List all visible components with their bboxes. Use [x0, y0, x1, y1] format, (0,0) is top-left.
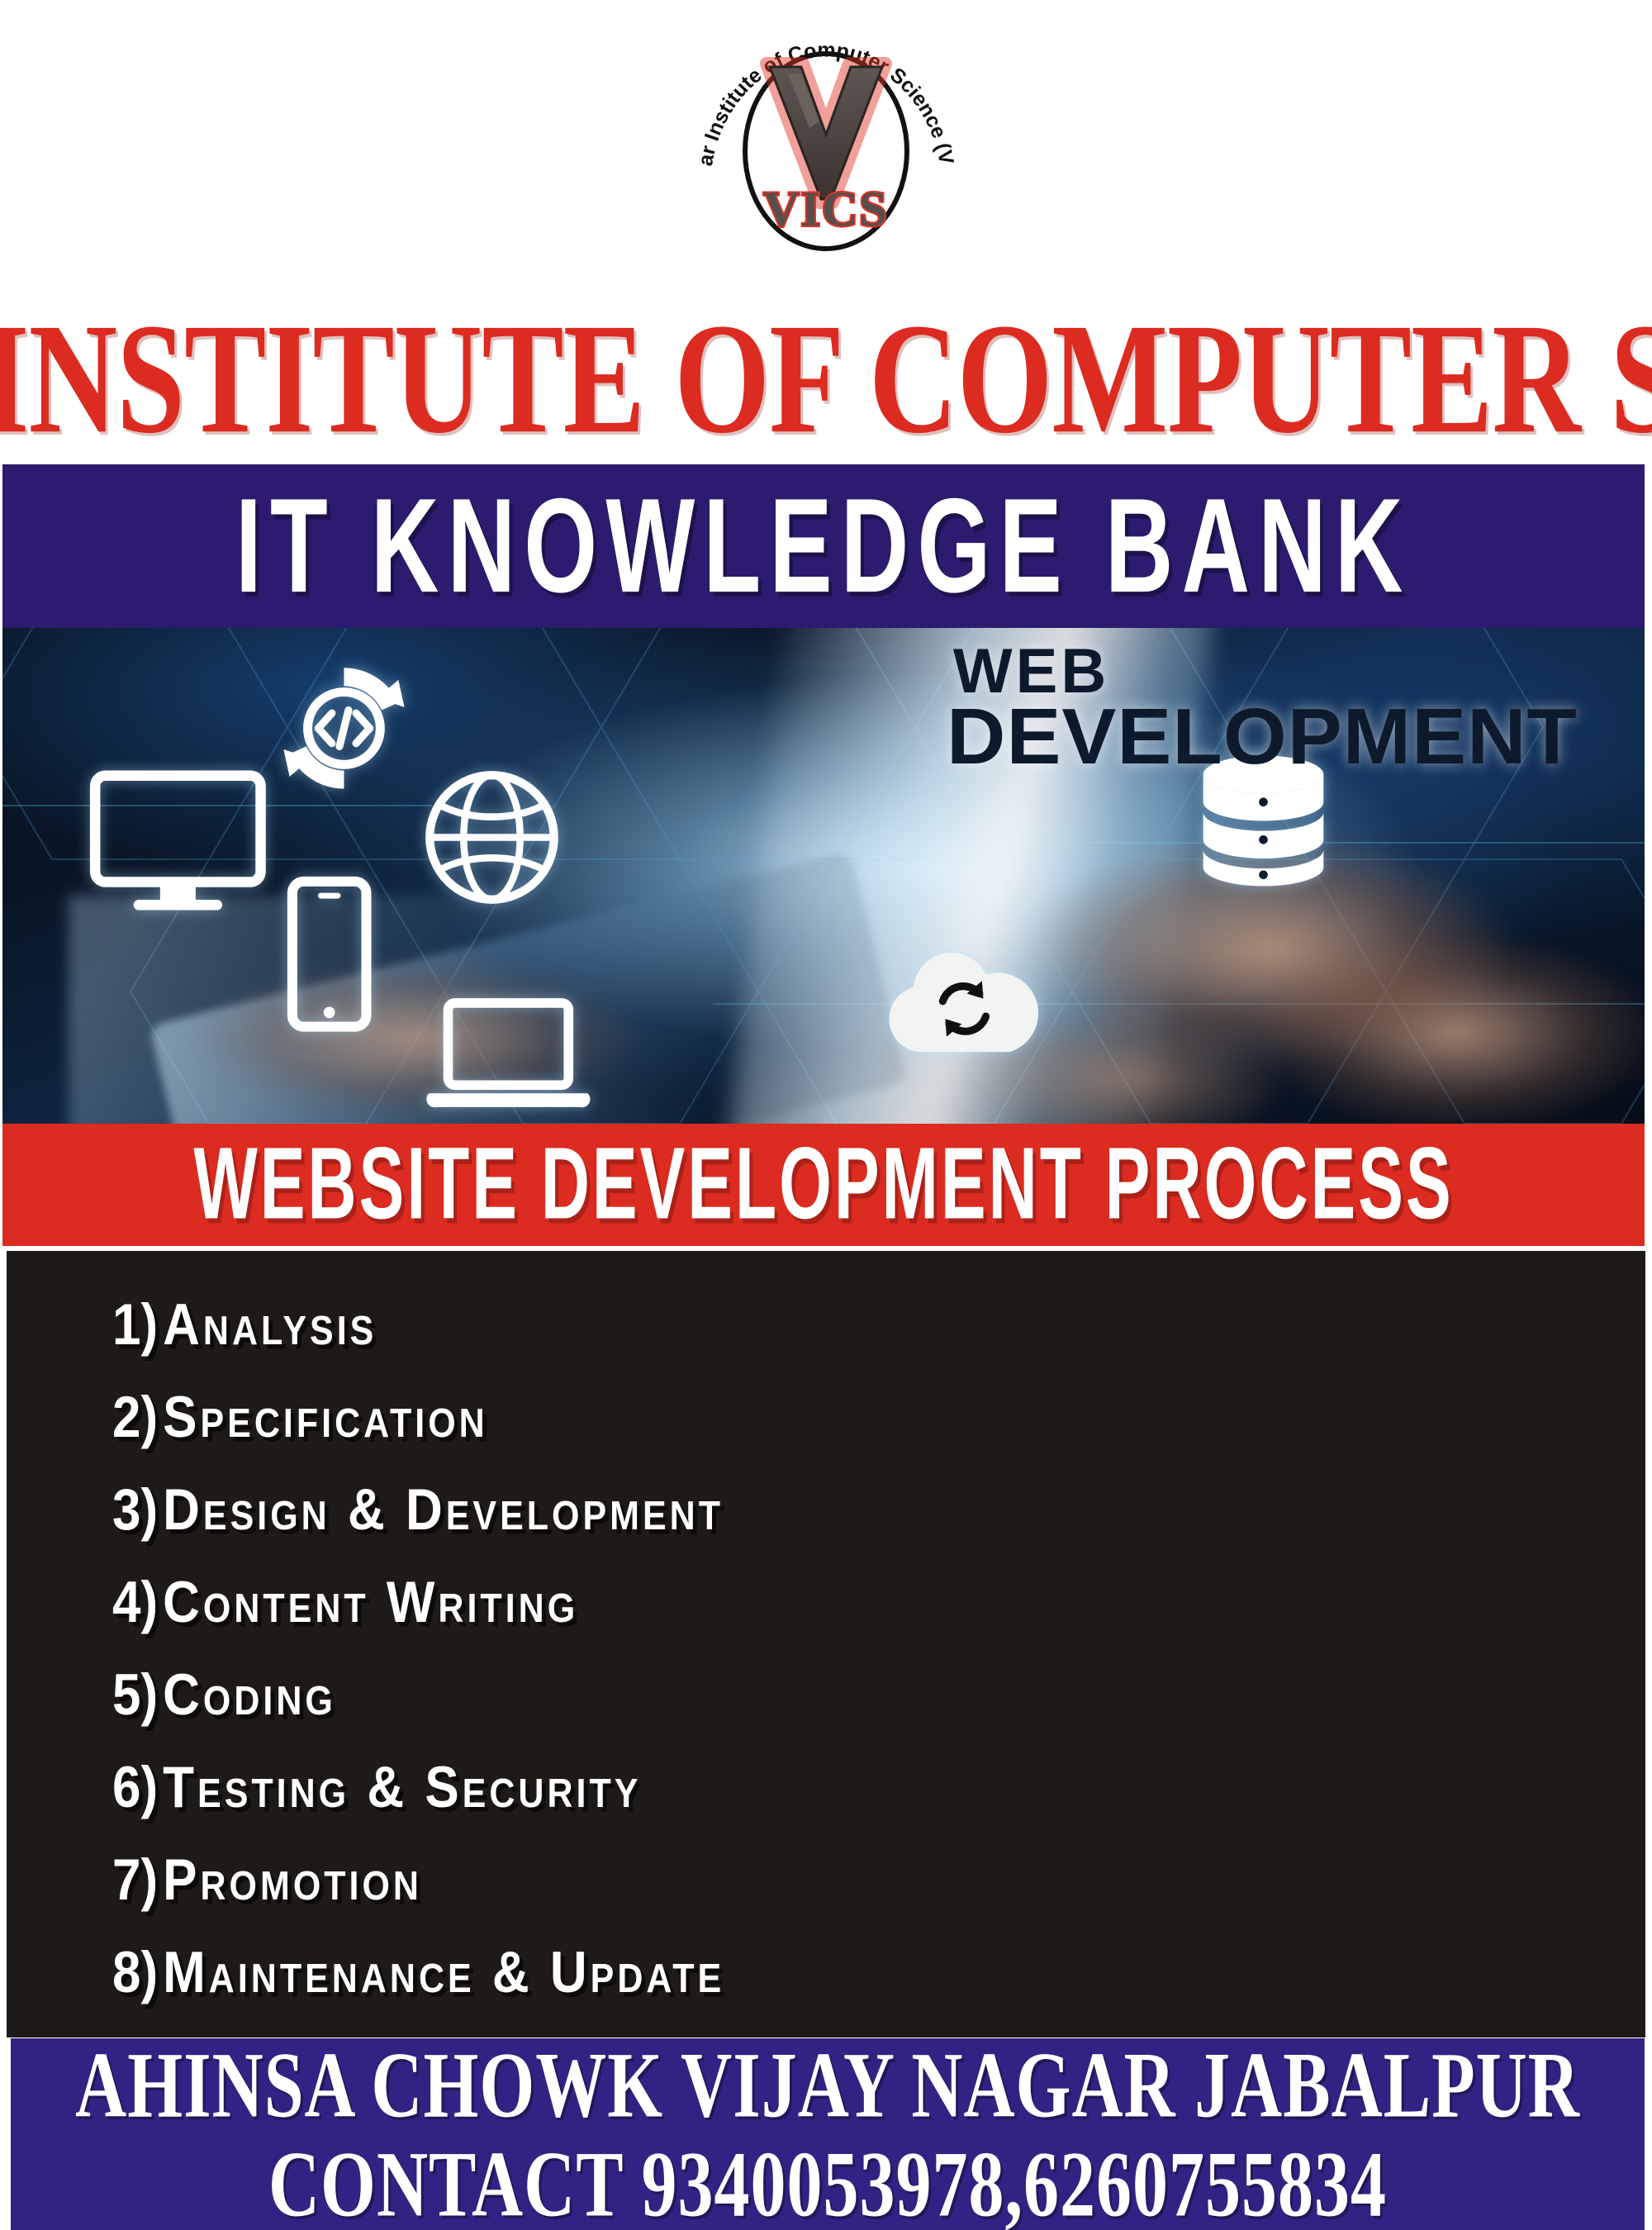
vics-logo-icon: Vistar Institute of Computer Science (VI… — [677, 4, 975, 277]
hero-title-line2: DEVELOPMENT — [947, 701, 1578, 773]
list-item: 4) Content Writing — [112, 1550, 1645, 1656]
code-sync-icon — [268, 653, 420, 804]
cloud-sync-icon — [873, 935, 1051, 1062]
hero-title: WEB DEVELOPMENT — [947, 643, 1559, 773]
institute-title: VISTAR INSTITUTE OF COMPUTER SCIENCE — [17, 274, 1635, 483]
list-item-label: Content Writing — [163, 1574, 578, 1633]
list-item: 7) Promotion — [112, 1828, 1645, 1933]
list-item-label: Maintenance & Update — [163, 1944, 724, 2003]
list-item: 5) Coding — [112, 1643, 1645, 1748]
list-item-number: 5) — [112, 1667, 158, 1725]
process-list-panel: 1) Analysis 2) Specification 3) Design &… — [7, 1251, 1645, 2037]
list-item-label: Testing & Security — [163, 1759, 641, 1818]
it-knowledge-bank-title: IT KNOWLEDGE BANK — [235, 479, 1412, 613]
contact-footer: AHINSA CHOWK VIJAY NAGAR JABALPUR CONTAC… — [11, 2038, 1645, 2230]
list-item-label: Design & Development — [163, 1481, 724, 1540]
laptop-icon — [426, 995, 591, 1118]
list-item-number: 2) — [112, 1389, 158, 1448]
list-item-number: 3) — [112, 1481, 158, 1540]
footer-contact: CONTACT 9340053978,6260755834 — [268, 2137, 1387, 2230]
list-item: 3) Design & Development — [112, 1457, 1645, 1563]
list-item-label: Analysis — [163, 1296, 377, 1355]
institute-logo: Vistar Institute of Computer Science (VI… — [0, 0, 1652, 281]
globe-icon — [421, 767, 563, 908]
list-item-number: 7) — [112, 1852, 158, 1910]
list-item-label: Specification — [163, 1389, 488, 1448]
list-item-label: Promotion — [163, 1852, 422, 1910]
website-development-process-title: WEBSITE DEVELOPMENT PROCESS — [193, 1134, 1453, 1236]
footer-address: AHINSA CHOWK VIJAY NAGAR JABALPUR — [75, 2038, 1580, 2132]
monitor-icon — [89, 767, 267, 915]
tablet-device-icon — [287, 876, 372, 1033]
list-item: 2) Specification — [112, 1365, 1645, 1471]
list-item-label: Coding — [163, 1667, 336, 1725]
list-item-number: 4) — [112, 1574, 158, 1633]
web-development-hero-image: WEB DEVELOPMENT — [2, 628, 1645, 1124]
it-knowledge-bank-banner: IT KNOWLEDGE BANK — [2, 464, 1645, 628]
website-development-process-banner: WEBSITE DEVELOPMENT PROCESS — [2, 1124, 1645, 1246]
svg-text:VICS: VICS — [763, 182, 888, 236]
process-list: 1) Analysis 2) Specification 3) Design &… — [112, 1279, 1645, 2019]
list-item: 6) Testing & Security — [112, 1735, 1645, 1841]
list-item: 8) Maintenance & Update — [112, 1920, 1645, 2026]
list-item: 1) Analysis — [112, 1272, 1645, 1378]
list-item-number: 8) — [112, 1944, 158, 2003]
list-item-number: 6) — [112, 1759, 158, 1818]
list-item-number: 1) — [112, 1296, 158, 1355]
